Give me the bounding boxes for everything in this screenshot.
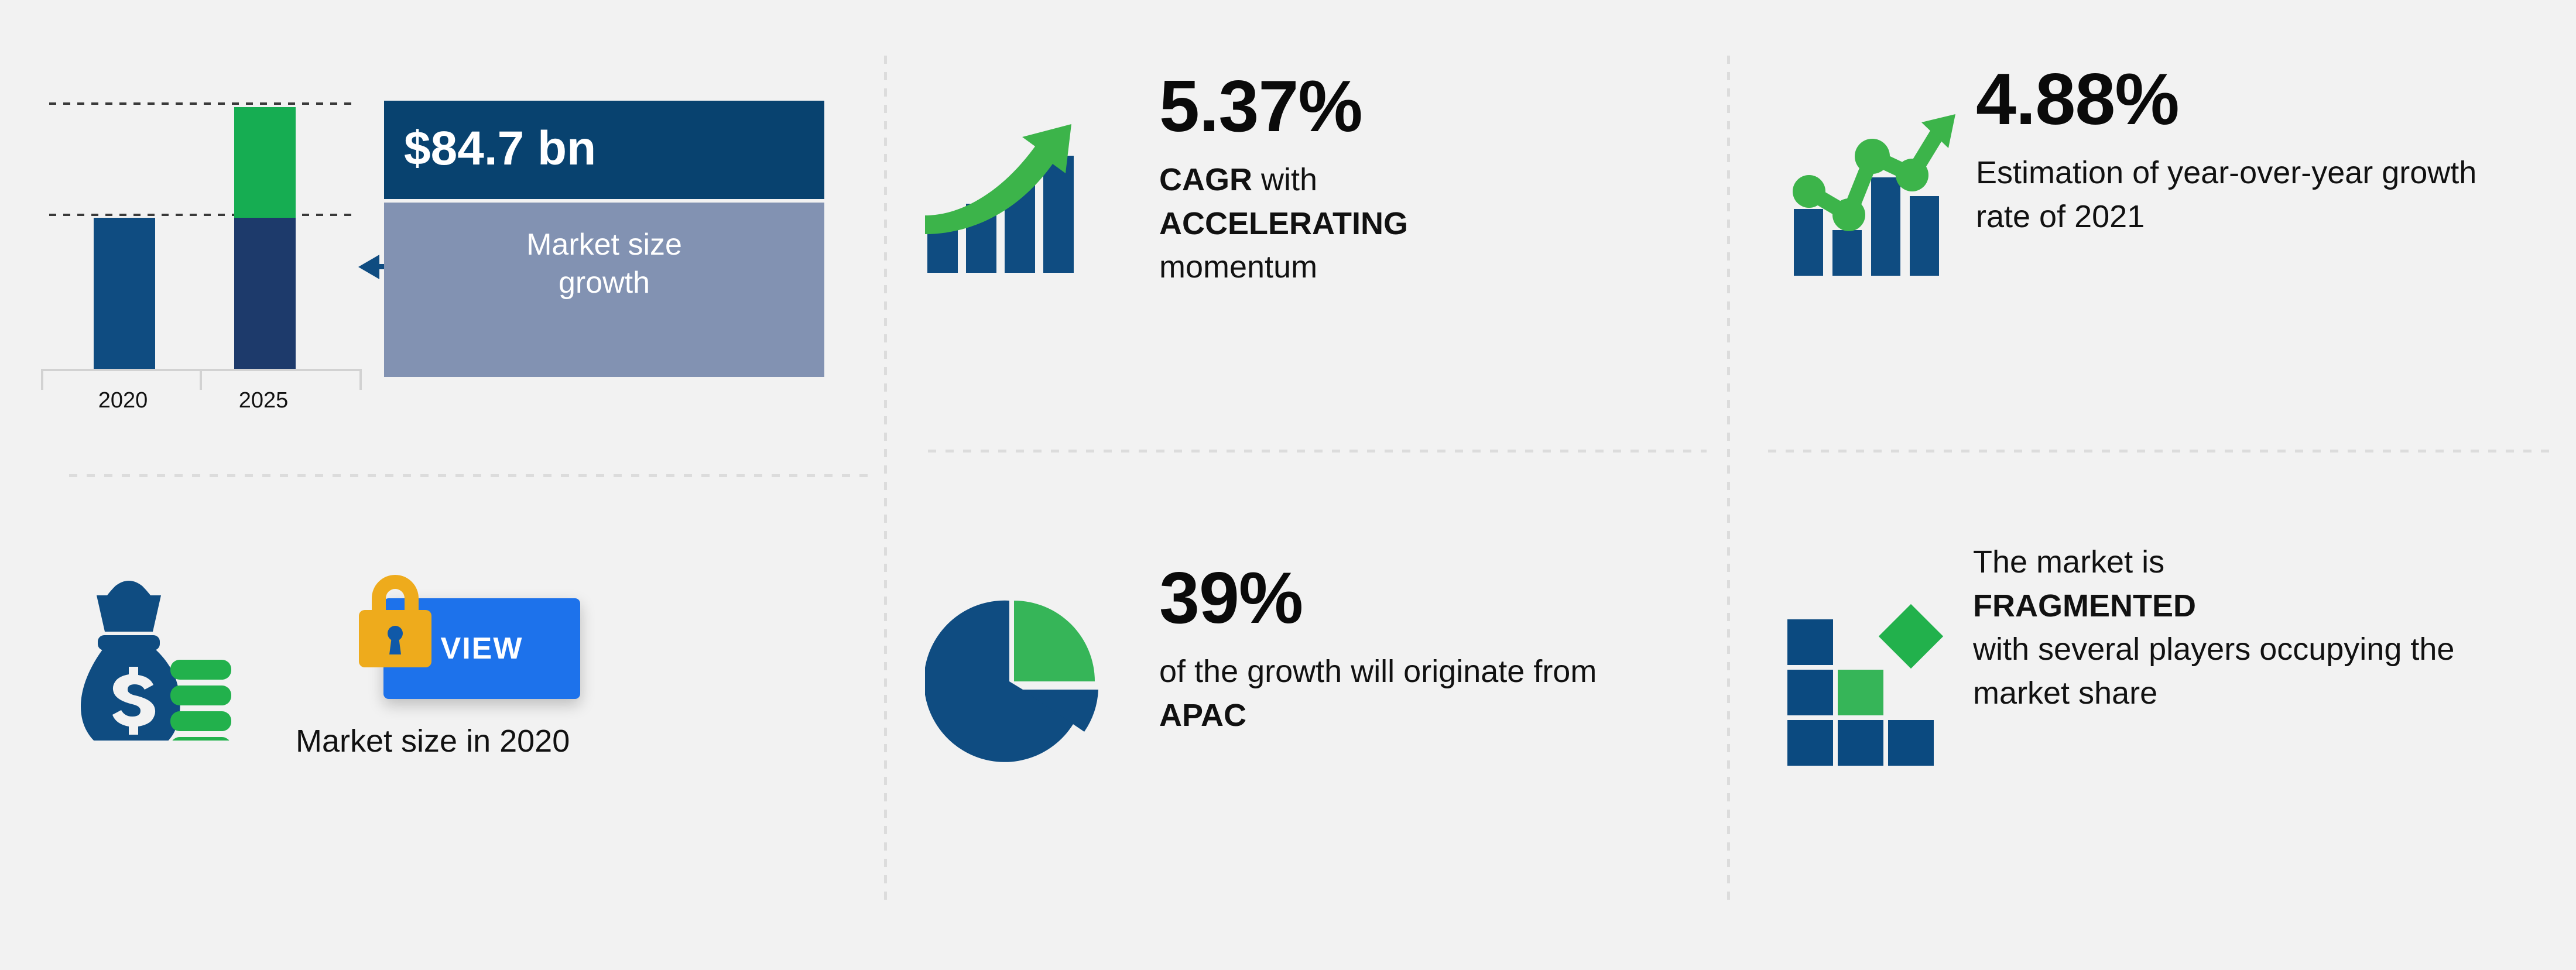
cagr-panel: 5.37% CAGR with ACCELERATING momentum	[884, 0, 1727, 450]
market-size-callout: $84.7 bn Market size growth	[384, 101, 824, 377]
bar-2025	[234, 107, 296, 369]
yoy-text-block: 4.88% Estimation of year-over-year growt…	[1976, 63, 2538, 238]
gridline-lower	[49, 214, 354, 216]
fragmented-market-panel: The market is FRAGMENTED with several pl…	[1727, 450, 2576, 970]
apac-growth-panel: 39% of the growth will originate from AP…	[884, 450, 1727, 970]
market-size-subtitle: Market size growth	[384, 203, 824, 377]
market-size-growth-panel: 2020 2025 $84.7 bn Market size growth	[0, 0, 878, 474]
market-size-2020-panel: VIEW Market size in 2020	[0, 474, 878, 970]
x-axis-label-2020: 2020	[76, 388, 170, 413]
fragmented-text-block: The market is FRAGMENTED with several pl…	[1973, 540, 2547, 715]
cagr-text-block: 5.37% CAGR with ACCELERATING momentum	[1159, 70, 1686, 289]
infographic-canvas: 2020 2025 $84.7 bn Market size growth	[0, 0, 2576, 970]
market-size-bar-chart: 2020 2025	[35, 88, 363, 392]
market-size-2020-caption: Market size in 2020	[296, 723, 823, 759]
apac-desc-plain-1: of the growth will originate from	[1159, 654, 1597, 689]
market-size-subtitle-line2: growth	[384, 264, 824, 302]
bar-2020	[94, 218, 155, 369]
x-axis-label-2025: 2025	[217, 388, 310, 413]
bar-2025-growth-segment	[234, 107, 296, 218]
apac-value: 39%	[1159, 562, 1686, 635]
gridline-upper	[49, 102, 354, 105]
cagr-value: 5.37%	[1159, 70, 1686, 143]
growth-bar-chart-arrow-icon	[919, 100, 1089, 278]
apac-text-block: 39% of the growth will originate from AP…	[1159, 562, 1686, 737]
cagr-description: CAGR with ACCELERATING momentum	[1159, 158, 1686, 289]
money-bag-icon	[61, 571, 231, 743]
fragmented-description: The market is FRAGMENTED with several pl…	[1973, 540, 2547, 715]
x-axis-tick-middle	[200, 370, 202, 390]
x-axis-tick-start	[41, 370, 43, 390]
cagr-desc-bold-1: CAGR	[1159, 162, 1252, 197]
x-axis-tick-end	[359, 370, 362, 390]
cagr-desc-plain-2: momentum	[1159, 249, 1317, 285]
frag-desc-plain-1: The market is	[1973, 544, 2164, 580]
frag-desc-plain-2: with several players occupying the marke…	[1973, 632, 2454, 711]
cagr-desc-bold-2: ACCELERATING	[1159, 206, 1408, 241]
market-size-subtitle-line1: Market size	[384, 226, 824, 264]
padlock-icon	[348, 568, 442, 670]
fragmented-squares-icon	[1783, 596, 1952, 769]
pie-chart-icon	[925, 596, 1101, 774]
cagr-desc-plain-1: with	[1252, 162, 1317, 197]
line-chart-arrow-icon	[1786, 102, 1955, 281]
yoy-description: Estimation of year-over-year growth rate…	[1976, 151, 2538, 238]
yoy-growth-panel: 4.88% Estimation of year-over-year growt…	[1727, 0, 2576, 450]
apac-desc-bold-1: APAC	[1159, 698, 1246, 733]
yoy-value: 4.88%	[1976, 63, 2538, 136]
market-size-value: $84.7 bn	[384, 101, 824, 199]
bar-2025-base-segment	[234, 218, 296, 369]
frag-desc-bold-1: FRAGMENTED	[1973, 588, 2196, 623]
apac-description: of the growth will originate from APAC	[1159, 650, 1686, 737]
